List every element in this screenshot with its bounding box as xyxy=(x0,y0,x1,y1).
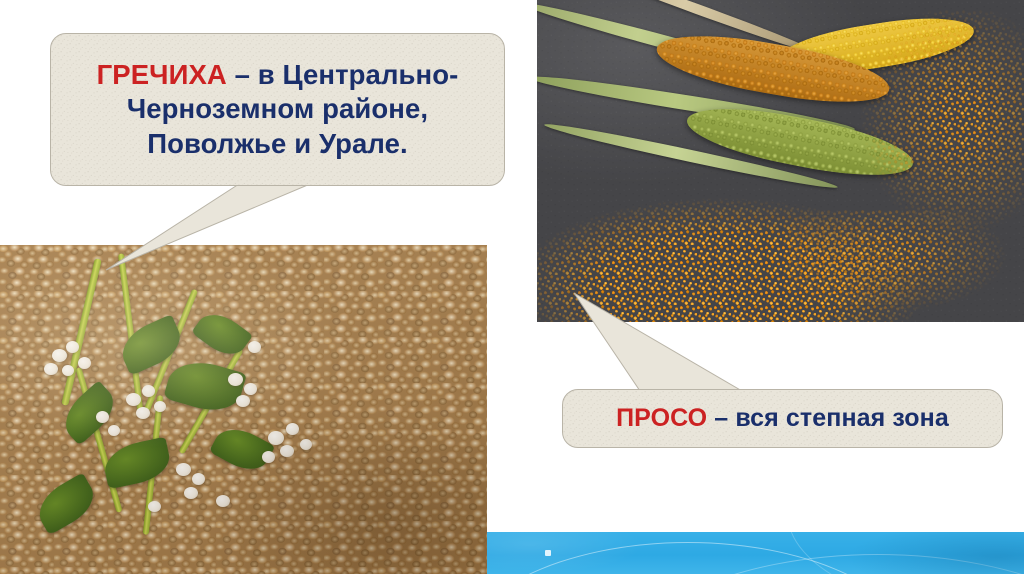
buckwheat-photo xyxy=(0,245,487,574)
callout-proso-keyword: ПРОСО xyxy=(616,404,707,432)
millet-photo xyxy=(537,0,1024,322)
millet-seeds-scattered xyxy=(787,210,1024,322)
band-shading xyxy=(487,532,1024,574)
decorative-blue-band xyxy=(487,532,1024,574)
callout-proso-text: ПРОСО – вся степная зона xyxy=(616,405,949,433)
callout-proso-body: – вся степная зона xyxy=(707,404,949,432)
callout-proso[interactable]: ПРОСО – вся степная зона xyxy=(562,389,1003,448)
buckwheat-photo-shading xyxy=(0,245,487,574)
slide-canvas: ГРЕЧИХА – в Центрально-Черноземном район… xyxy=(0,0,1024,574)
callout-grechiha[interactable]: ГРЕЧИХА – в Центрально-Черноземном район… xyxy=(50,33,505,186)
callout-grechiha-keyword: ГРЕЧИХА xyxy=(97,59,227,90)
callout-grechiha-text: ГРЕЧИХА – в Центрально-Черноземном район… xyxy=(73,58,482,161)
